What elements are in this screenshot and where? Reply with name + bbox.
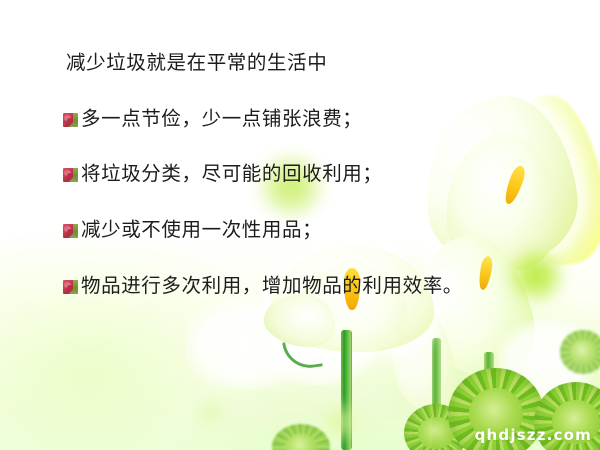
bullet-item-2: 将垃圾分类，尽可能的回收利用； [63,165,383,185]
rose-leaf [73,224,78,238]
rose-bullet-icon [63,280,78,294]
rose-leaf [73,113,78,127]
bullet-text-4: 物品进行多次利用，增加物品的利用效率。 [81,277,463,297]
bullet-text-3: 减少或不使用一次性用品； [81,221,322,241]
rose-bullet-icon [63,168,78,182]
rose-leaf [73,280,78,294]
rose-bullet-icon [63,113,78,127]
bullet-item-3: 减少或不使用一次性用品； [63,221,322,241]
slide-title-text: 减少垃圾就是在平常的生活中 [66,54,327,74]
slide-canvas: 减少垃圾就是在平常的生活中 多一点节俭，少一点铺张浪费； 将垃圾分类，尽可能的回… [0,0,600,450]
bullet-item-1: 多一点节俭，少一点铺张浪费； [63,110,362,130]
rose-bullet-icon [63,224,78,238]
bullet-text-2: 将垃圾分类，尽可能的回收利用； [81,165,383,185]
bullet-item-4: 物品进行多次利用，增加物品的利用效率。 [63,277,463,297]
slide-title-line: 减少垃圾就是在平常的生活中 [66,54,327,74]
rose-leaf [73,168,78,182]
site-watermark: qhdjszz.com [475,426,592,444]
bullet-text-1: 多一点节俭，少一点铺张浪费； [81,110,362,130]
slide-text-block: 减少垃圾就是在平常的生活中 多一点节俭，少一点铺张浪费； 将垃圾分类，尽可能的回… [0,0,600,450]
